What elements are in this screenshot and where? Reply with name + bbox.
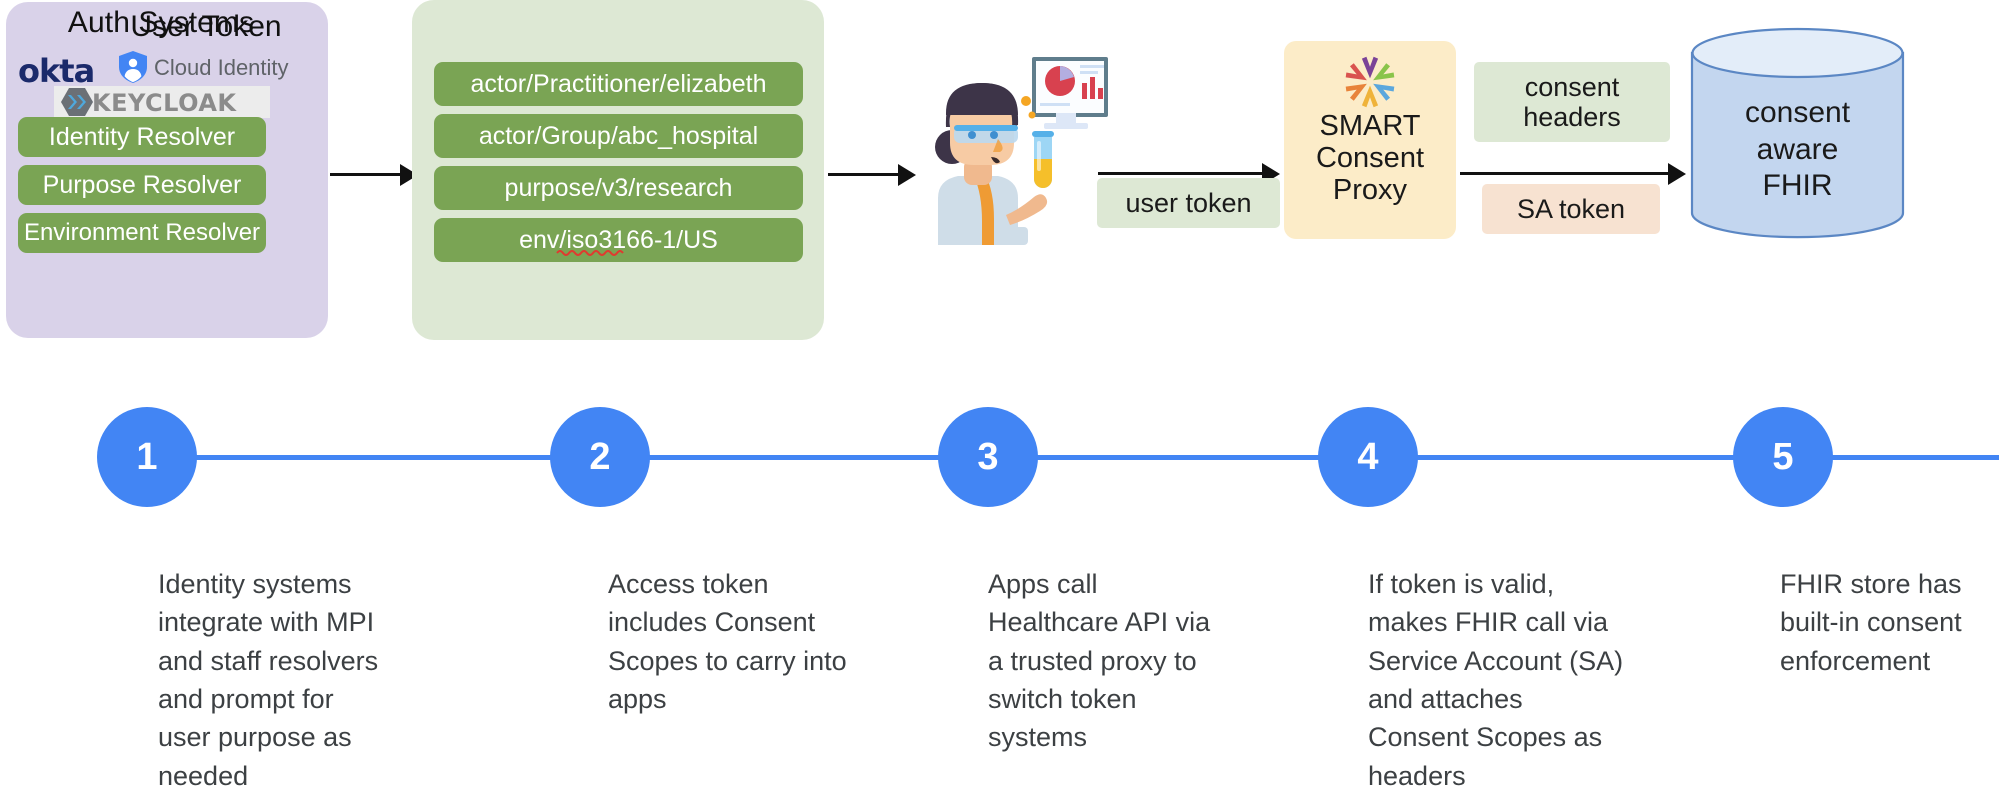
test-tube-icon xyxy=(1032,131,1054,188)
consent-aware-fhir-node[interactable]: consent aware FHIR xyxy=(1690,27,1905,239)
sa-token-label-chip: SA token xyxy=(1482,184,1660,234)
keycloak-label: KEYCLOAK xyxy=(92,89,237,117)
consent-headers-label-chip: consent headers xyxy=(1474,62,1670,142)
user-token-title: User Token xyxy=(0,10,412,44)
arrow-proxy-to-fhir-head xyxy=(1668,163,1686,185)
arrow-app-to-proxy-line xyxy=(1098,172,1266,175)
timeline-step-text-3: Apps call Healthcare API via a trusted p… xyxy=(988,565,1253,757)
token-scope-chip-actor-group[interactable]: actor/Group/abc_hospital xyxy=(434,114,803,158)
smart-proxy-line2: Consent xyxy=(1284,143,1456,175)
token-scope-env-label: env/iso3166-1/US xyxy=(519,228,718,253)
timeline-step-circle-1[interactable]: 1 xyxy=(97,407,197,507)
timeline-step-text-1: Identity systems integrate with MPI and … xyxy=(158,565,418,795)
timeline-step-circle-5[interactable]: 5 xyxy=(1733,407,1833,507)
token-scope-chip-env[interactable]: env/iso3166-1/US xyxy=(434,218,803,262)
cloud-identity-shield-icon xyxy=(118,50,148,84)
clinician-illustration xyxy=(928,55,1118,245)
okta-logo: okta xyxy=(18,52,94,90)
timeline-step-text-4: If token is valid, makes FHIR call via S… xyxy=(1368,565,1658,795)
fhir-store-label: consent aware FHIR xyxy=(1690,95,1905,205)
token-scope-chip-actor-practitioner[interactable]: actor/Practitioner/elizabeth xyxy=(434,62,803,106)
auth-systems-logos: okta Cloud Identity KEYCLOAK xyxy=(10,48,312,118)
cloud-identity-label: Cloud Identity xyxy=(154,55,289,81)
arrow-token-to-app-head xyxy=(898,164,916,186)
smart-consent-proxy-node[interactable]: SMART Consent Proxy xyxy=(1284,41,1456,239)
timeline-step-text-5: FHIR store has built-in consent enforcem… xyxy=(1780,565,1999,680)
environment-resolver-chip[interactable]: Environment Resolver xyxy=(18,213,266,253)
user-token-label-chip: user token xyxy=(1097,178,1280,228)
consent-headers-line1: consent xyxy=(1525,72,1620,102)
arrow-token-to-app-line xyxy=(828,173,900,176)
decor-dot xyxy=(1029,112,1036,119)
keycloak-logo: KEYCLOAK xyxy=(54,86,270,118)
smart-logo-icon xyxy=(1343,55,1397,109)
token-scope-chip-purpose[interactable]: purpose/v3/research xyxy=(434,166,803,210)
timeline-connector xyxy=(140,455,1999,460)
purpose-resolver-chip[interactable]: Purpose Resolver xyxy=(18,165,266,205)
identity-resolver-chip[interactable]: Identity Resolver xyxy=(18,117,266,157)
fhir-line1: consent xyxy=(1690,95,1905,132)
smart-proxy-line3: Proxy xyxy=(1284,175,1456,207)
timeline-step-circle-4[interactable]: 4 xyxy=(1318,407,1418,507)
goggle-strap xyxy=(954,125,1018,131)
sleeve xyxy=(1002,227,1028,245)
fhir-line3: FHIR xyxy=(1690,168,1905,205)
monitor-icon xyxy=(1032,57,1108,129)
keycloak-hex-icon xyxy=(60,87,94,117)
timeline-step-circle-2[interactable]: 2 xyxy=(550,407,650,507)
diagram-canvas: Auth Systems okta Cloud Identity KEYCLOA… xyxy=(0,0,1999,807)
decor-dot xyxy=(1021,96,1031,106)
fhir-line2: aware xyxy=(1690,132,1905,169)
arrow-auth-to-token-line xyxy=(330,173,402,176)
arrow-proxy-to-fhir-line xyxy=(1460,172,1672,175)
smart-consent-proxy-label: SMART Consent Proxy xyxy=(1284,111,1456,207)
timeline-step-text-2: Access token includes Consent Scopes to … xyxy=(608,565,883,718)
smart-proxy-line1: SMART xyxy=(1284,111,1456,143)
consent-headers-line2: headers xyxy=(1523,102,1621,132)
timeline-step-circle-3[interactable]: 3 xyxy=(938,407,1038,507)
